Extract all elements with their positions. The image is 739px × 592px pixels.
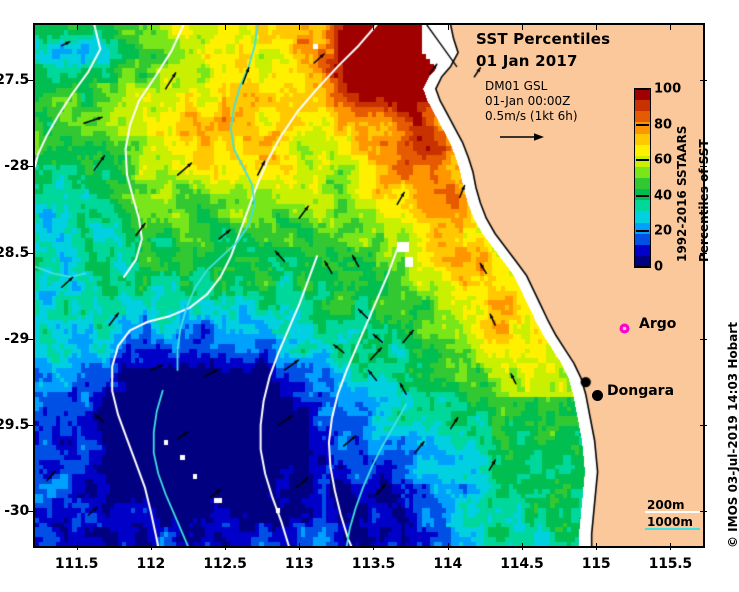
colorbar-band: [635, 178, 650, 189]
y-axis-label: -29.5: [0, 417, 29, 433]
x-axis-tick: [670, 543, 671, 550]
y-axis-tick: [28, 253, 35, 254]
figure-title: SST Percentiles 01 Jan 2017: [476, 28, 610, 72]
x-axis-label: 111.5: [55, 556, 98, 572]
x-axis-tick: [596, 543, 597, 550]
depth-contour-legend: 200m1000m: [645, 497, 693, 531]
current-vector-annotation: DM01 GSL 01-Jan 00:00Z 0.5m/s (1kt 6h): [485, 79, 578, 124]
x-axis-tick: [151, 543, 152, 550]
colorbar-band: [635, 89, 650, 100]
x-axis-tick-top: [299, 23, 300, 30]
colorbar-tick: [636, 230, 649, 232]
colorbar-dataset-label: 1992-2016 SSTAARS: [675, 126, 689, 262]
y-axis-tick-right: [700, 511, 707, 512]
y-axis-tick: [28, 166, 35, 167]
x-axis-label: 113.5: [352, 556, 395, 572]
colorbar-gradient: [634, 88, 651, 268]
depth-contour-label: 200m: [645, 497, 685, 514]
x-axis-tick: [299, 543, 300, 550]
map-overlay-layer: [35, 25, 703, 546]
x-axis-label: 115: [582, 556, 611, 572]
vector-scale-label: 0.5m/s (1kt 6h): [485, 109, 578, 124]
dongara-label: Dongara: [607, 383, 674, 399]
x-axis-label: 112: [136, 556, 165, 572]
y-axis-tick-right: [700, 339, 707, 340]
x-axis-label: 114: [433, 556, 462, 572]
colorbar-tick: [636, 266, 649, 268]
colorbar-band: [635, 100, 650, 111]
argo-legend-item: Argo: [619, 316, 676, 332]
x-axis-tick: [373, 543, 374, 550]
colorbar-tick: [636, 195, 649, 197]
x-axis-tick: [448, 543, 449, 550]
colorbar-tick: [636, 124, 649, 126]
argo-legend-label: Argo: [639, 316, 676, 332]
y-axis-tick-right: [700, 80, 707, 81]
y-axis-label: -29: [4, 331, 29, 347]
sst-percentiles-map-figure: 111.5112112.5113113.5114114.5115115.5-27…: [0, 0, 739, 592]
x-axis-tick-top: [448, 23, 449, 30]
x-axis-tick-top: [225, 23, 226, 30]
colorbar-band: [635, 211, 650, 222]
colorbar-band: [635, 134, 650, 145]
depth-contour-label: 1000m: [645, 514, 693, 531]
x-axis-tick-top: [77, 23, 78, 30]
model-name-label: DM01 GSL: [485, 79, 578, 94]
colorbar-band: [635, 145, 650, 156]
colorbar-band: [635, 167, 650, 178]
colorbar-band: [635, 156, 650, 167]
model-time-label: 01-Jan 00:00Z: [485, 94, 578, 109]
map-plot-area[interactable]: [33, 23, 705, 548]
copyright-notice: © IMOS 03-Jul-2019 14:03 Hobart: [726, 322, 739, 548]
y-axis-label: -30: [4, 503, 29, 519]
title-line-1: SST Percentiles: [476, 28, 610, 50]
x-axis-tick-top: [670, 23, 671, 30]
colorbar-quantity-label: Percentiles of SST: [697, 139, 711, 262]
title-line-2: 01 Jan 2017: [476, 50, 610, 72]
x-axis-tick: [225, 543, 226, 550]
depth-legend-row: 1000m: [645, 514, 693, 531]
argo-marker-icon: [619, 319, 630, 330]
colorbar-tick-label: 40: [654, 188, 672, 203]
depth-legend-row: 200m: [645, 497, 693, 514]
colorbar-tick-label: 80: [654, 117, 672, 132]
y-axis-tick: [28, 80, 35, 81]
colorbar-band: [635, 234, 650, 245]
x-axis-tick: [522, 543, 523, 550]
y-axis-tick: [28, 425, 35, 426]
colorbar-tick-label: 20: [654, 224, 672, 239]
x-axis-tick-top: [151, 23, 152, 30]
x-axis-label: 112.5: [203, 556, 246, 572]
right-arrow-icon: [500, 128, 544, 140]
y-axis-label: -28: [4, 158, 29, 174]
colorbar-tick-label: 100: [654, 82, 681, 97]
colorbar-tick: [636, 159, 649, 161]
y-axis-tick: [28, 339, 35, 340]
colorbar-band: [635, 200, 650, 211]
x-axis-label: 113: [285, 556, 314, 572]
colorbar-tick: [636, 88, 649, 90]
colorbar-tick-label: 60: [654, 153, 672, 168]
y-axis-tick-right: [700, 425, 707, 426]
y-axis-label: -28.5: [0, 245, 29, 261]
colorbar: [634, 88, 651, 268]
x-axis-label: 115.5: [649, 556, 692, 572]
x-axis-label: 114.5: [500, 556, 543, 572]
colorbar-tick-label: 0: [654, 260, 663, 275]
colorbar-band: [635, 111, 650, 122]
x-axis-tick-top: [373, 23, 374, 30]
colorbar-band: [635, 245, 650, 256]
dongara-location-marker: [592, 390, 603, 401]
y-axis-label: -27.5: [0, 72, 29, 88]
x-axis-tick: [77, 543, 78, 550]
